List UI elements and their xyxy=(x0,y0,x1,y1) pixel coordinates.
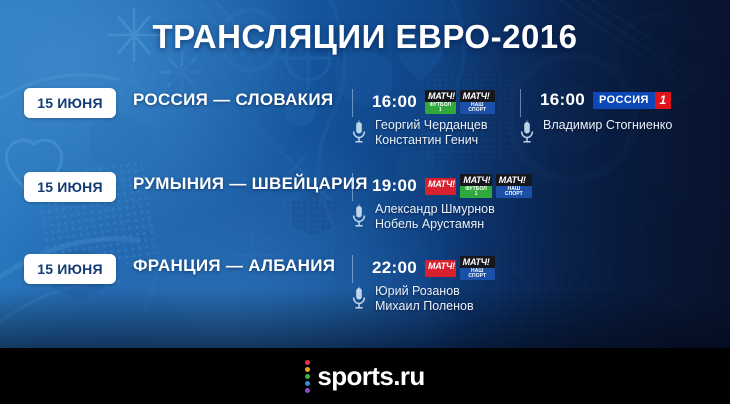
channel-logo-match-nash-sport: МАТЧ!НАШ СПОРТ xyxy=(460,90,495,114)
brand-dot xyxy=(305,360,310,365)
broadcast-header: 16:00МАТЧ!ФУТБОЛ 1МАТЧ!НАШ СПОРТ xyxy=(372,90,495,114)
broadcast-time: 16:00 xyxy=(372,92,417,112)
match-row: 15 ИЮНЯРУМЫНИЯ — ШВЕЙЦАРИЯ19:00МАТЧ! МАТ… xyxy=(0,172,730,248)
broadcast-divider xyxy=(352,89,353,117)
broadcast-time: 19:00 xyxy=(372,176,417,196)
sports-ru-logo[interactable]: sports.ru xyxy=(305,360,424,393)
brand-dot xyxy=(305,374,310,379)
commentator-name: Георгий Черданцев xyxy=(375,118,488,132)
channel-logo-rossiya-1: РОССИЯ1 xyxy=(593,92,671,109)
microphone-icon xyxy=(352,286,366,312)
broadcast-time: 22:00 xyxy=(372,258,417,278)
broadcast-divider xyxy=(352,255,353,283)
page-title: ТРАНСЛЯЦИИ ЕВРО-2016 xyxy=(0,18,730,56)
brand-dot xyxy=(305,367,310,372)
channel-logo-match: МАТЧ! xyxy=(425,178,456,195)
microphone-icon xyxy=(520,120,534,146)
broadcast-divider xyxy=(352,173,353,201)
channel-logo-title: МАТЧ! xyxy=(425,90,456,102)
match-teams: ФРАНЦИЯ — АЛБАНИЯ xyxy=(133,256,335,276)
commentator-names: Георгий ЧерданцевКонстантин Генич xyxy=(375,118,488,148)
channel-logo-subtitle xyxy=(425,190,456,195)
commentators-block: Георгий ЧерданцевКонстантин Генич xyxy=(352,118,488,148)
euro-2016-broadcast-poster: ТРАНСЛЯЦИИ ЕВРО-2016 15 ИЮНЯРОССИЯ — СЛО… xyxy=(0,0,730,404)
commentator-name: Михаил Поленов xyxy=(375,299,474,313)
match-teams: РУМЫНИЯ — ШВЕЙЦАРИЯ xyxy=(133,174,368,194)
commentator-name: Владимир Стогниенко xyxy=(543,118,672,132)
match-row: 15 ИЮНЯРОССИЯ — СЛОВАКИЯ16:00МАТЧ!ФУТБОЛ… xyxy=(0,88,730,164)
microphone-icon xyxy=(352,120,366,146)
channel-logo-subtitle xyxy=(425,272,456,277)
broadcast-header: 19:00МАТЧ! МАТЧ!ФУТБОЛ 1МАТЧ!НАШ СПОРТ xyxy=(372,174,532,198)
channel-logo-title: МАТЧ! xyxy=(460,174,491,186)
commentator-names: Александр ШмурновНобель Арустамян xyxy=(375,202,495,232)
channel-logo-match-futbol-1: МАТЧ!ФУТБОЛ 1 xyxy=(425,90,456,114)
channel-logo-title: МАТЧ! xyxy=(425,260,456,272)
commentator-name: Александр Шмурнов xyxy=(375,202,495,216)
channel-logo-list: МАТЧ!ФУТБОЛ 1МАТЧ!НАШ СПОРТ xyxy=(425,90,495,114)
commentators-block: Владимир Стогниенко xyxy=(520,118,672,146)
channel-logo-match-nash-sport: МАТЧ!НАШ СПОРТ xyxy=(496,174,532,198)
channel-logo-list: МАТЧ! МАТЧ!ФУТБОЛ 1МАТЧ!НАШ СПОРТ xyxy=(425,174,532,198)
brand-dot xyxy=(305,388,310,393)
match-teams: РОССИЯ — СЛОВАКИЯ xyxy=(133,90,333,110)
channel-logo-title: МАТЧ! xyxy=(460,256,495,268)
channel-logo-subtitle: НАШ СПОРТ xyxy=(496,186,532,198)
channel-logo-title: МАТЧ! xyxy=(496,174,532,186)
channel-logo-match: МАТЧ! xyxy=(425,260,456,277)
channel-logo-list: МАТЧ! МАТЧ!НАШ СПОРТ xyxy=(425,256,495,280)
commentator-name: Нобель Арустамян xyxy=(375,217,484,231)
broadcast-divider xyxy=(520,89,521,117)
footer-bar: sports.ru xyxy=(0,348,730,404)
broadcast-header: 22:00МАТЧ! МАТЧ!НАШ СПОРТ xyxy=(372,256,495,280)
brand-dot xyxy=(305,381,310,386)
commentator-name: Юрий Розанов xyxy=(375,284,460,298)
commentators-block: Юрий РозановМихаил Поленов xyxy=(352,284,474,314)
channel-logo-subtitle: НАШ СПОРТ xyxy=(460,268,495,280)
brand-text: sports.ru xyxy=(317,361,424,392)
match-date-badge: 15 ИЮНЯ xyxy=(24,254,116,284)
channel-logo-title: МАТЧ! xyxy=(425,178,456,190)
channel-logo-match-nash-sport: МАТЧ!НАШ СПОРТ xyxy=(460,256,495,280)
channel-logo-title: МАТЧ! xyxy=(460,90,495,102)
channel-logo-subtitle: ФУТБОЛ 1 xyxy=(425,102,456,114)
commentators-block: Александр ШмурновНобель Арустамян xyxy=(352,202,495,232)
channel-logo-subtitle: ФУТБОЛ 1 xyxy=(460,186,491,198)
commentator-names: Юрий РозановМихаил Поленов xyxy=(375,284,474,314)
brand-dots-icon xyxy=(305,360,310,393)
channel-logo-match-futbol-1: МАТЧ!ФУТБОЛ 1 xyxy=(460,174,491,198)
channel-logo-rossiya-number: 1 xyxy=(655,92,671,109)
match-date-badge: 15 ИЮНЯ xyxy=(24,172,116,202)
channel-logo-rossiya-text: РОССИЯ xyxy=(593,92,655,109)
broadcast-time: 16:00 xyxy=(540,90,585,110)
microphone-icon xyxy=(352,204,366,230)
match-row: 15 ИЮНЯФРАНЦИЯ — АЛБАНИЯ22:00МАТЧ! МАТЧ!… xyxy=(0,254,730,330)
channel-logo-subtitle: НАШ СПОРТ xyxy=(460,102,495,114)
channel-logo-list: РОССИЯ1 xyxy=(593,92,671,109)
match-date-badge: 15 ИЮНЯ xyxy=(24,88,116,118)
broadcast-header: 16:00РОССИЯ1 xyxy=(540,90,671,110)
commentator-names: Владимир Стогниенко xyxy=(543,118,672,133)
commentator-name: Константин Генич xyxy=(375,133,478,147)
